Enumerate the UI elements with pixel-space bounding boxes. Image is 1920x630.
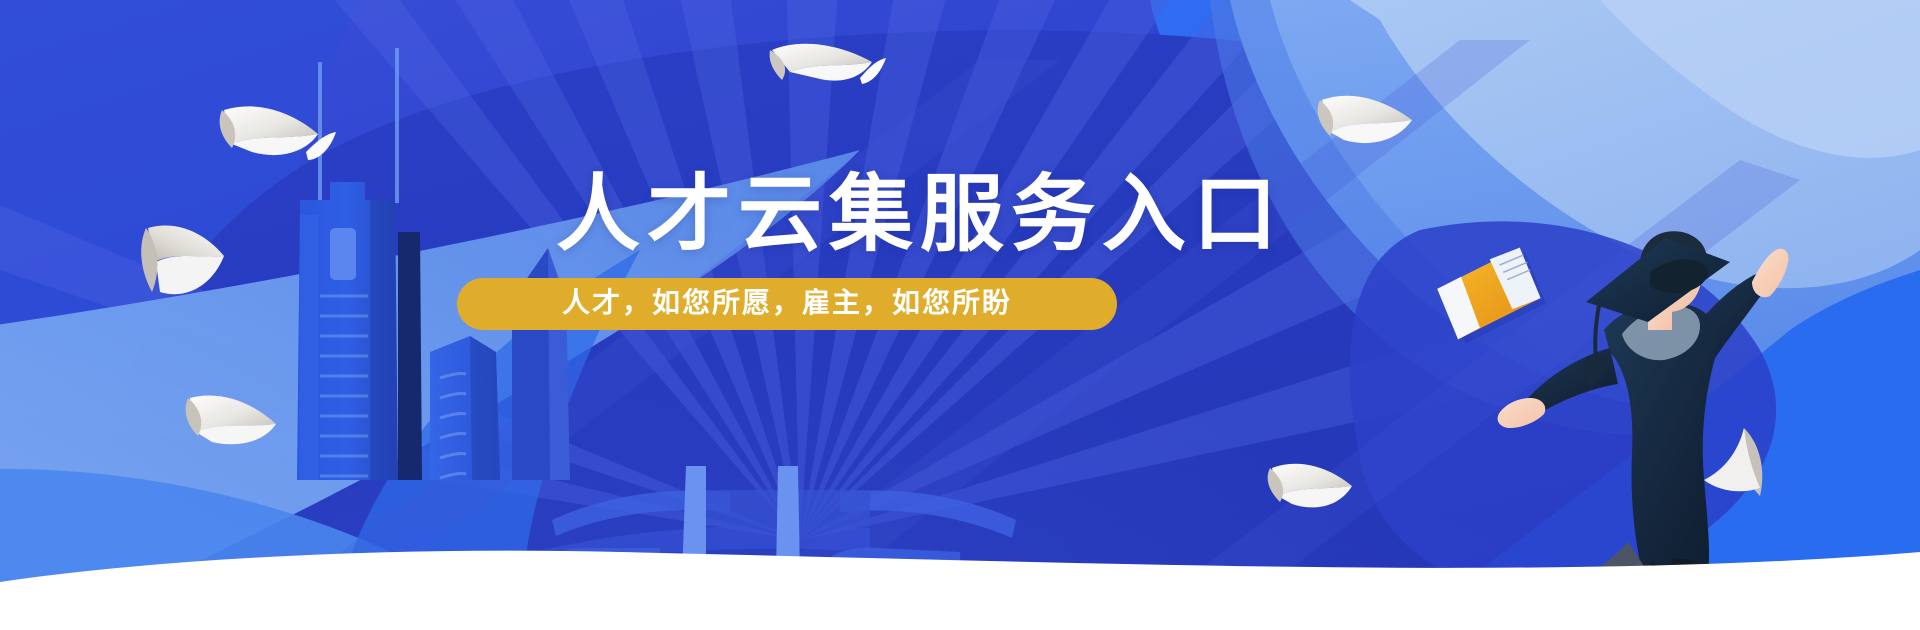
tower-main-shadow <box>370 200 398 480</box>
tower-dark-narrow <box>398 232 422 480</box>
antenna-right <box>395 48 399 203</box>
tower-left-column <box>299 215 318 480</box>
tower-window-panel <box>330 228 356 280</box>
banner-background-illustration <box>0 0 1920 630</box>
hero-banner: 人才云集服务入口 人才，如您所愿，雇主，如您所盼 <box>0 0 1920 630</box>
tower-angled-shadow <box>470 336 500 480</box>
antenna-left <box>318 62 322 202</box>
